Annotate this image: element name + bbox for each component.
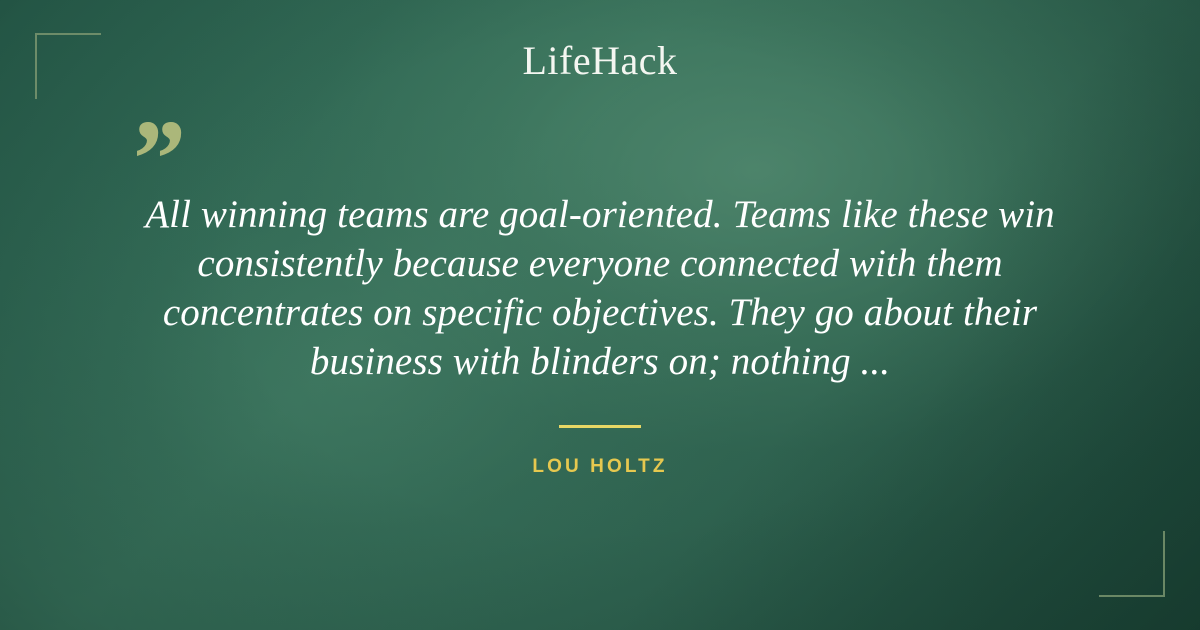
quote-text: All winning teams are goal-oriented. Tea… [90,190,1110,386]
attribution-divider [559,425,641,428]
attribution-block: LOU HOLTZ [0,425,1200,478]
author-name: LOU HOLTZ [0,456,1200,478]
quote-line: consistently because everyone connected … [90,239,1110,288]
brand-logo: LifeHack [0,37,1200,84]
quote-line: concentrates on specific objectives. The… [90,288,1110,337]
quote-line: business with blinders on; nothing ... [90,337,1110,386]
quote-card: LifeHack ” All winning teams are goal-or… [0,0,1200,630]
quote-line: All winning teams are goal-oriented. Tea… [90,190,1110,239]
